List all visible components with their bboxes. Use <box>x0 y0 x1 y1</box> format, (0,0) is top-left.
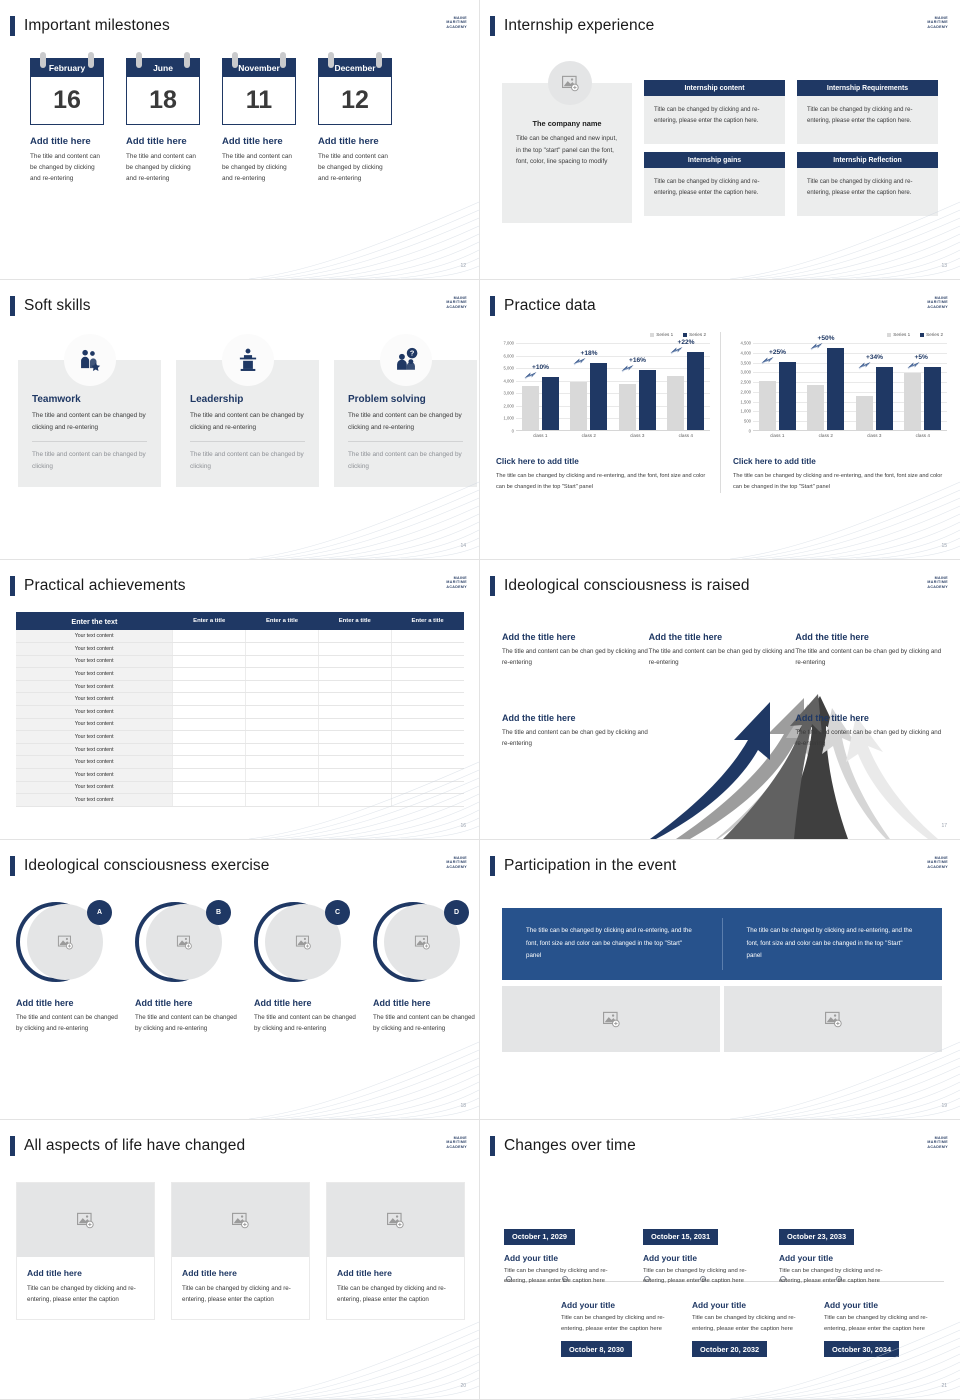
table-cell-empty[interactable] <box>246 794 319 807</box>
table-cell-empty[interactable] <box>318 643 391 656</box>
soft-skill-body-secondary: The title and content can be changed by … <box>32 449 147 473</box>
participation-band: The title can be changed by clicking and… <box>502 908 942 980</box>
internship-card-body: Title can be changed by clicking and re-… <box>644 96 785 144</box>
internship-card[interactable]: Internship Reflection Title can be chang… <box>797 152 938 216</box>
image-placeholder[interactable] <box>327 1183 464 1257</box>
table-cell-empty[interactable] <box>246 668 319 681</box>
bar <box>570 382 587 430</box>
column-divider <box>720 332 721 493</box>
aspect-card-text: Title can be changed by clicking and re-… <box>27 1283 144 1306</box>
ideology-item-head: Add the title here <box>502 713 649 723</box>
table-cell-empty[interactable] <box>318 781 391 794</box>
ideology-item-head: Add the title here <box>795 632 942 642</box>
x-axis-labels: class 1class 2class 3class 4 <box>516 433 710 438</box>
bar <box>639 370 656 430</box>
table-cell-empty[interactable] <box>173 655 246 668</box>
slide-soft-skills: Soft skills MAINE MARITIME ACADEMY Teamw… <box>0 280 480 560</box>
page-number: 12 <box>460 263 466 269</box>
table-cell-label: Your text content <box>16 668 173 681</box>
image-placeholder-icon <box>824 1010 843 1029</box>
internship-card-header: Internship content <box>644 80 785 96</box>
y-tick-label: 1,500 <box>741 399 751 404</box>
image-placeholder[interactable] <box>502 986 720 1052</box>
page-number: 16 <box>460 823 466 829</box>
y-tick-label: 2,000 <box>741 389 751 394</box>
logo-line-3: ACADEMY <box>446 865 467 869</box>
title-accent-bar <box>490 856 495 876</box>
calendar-body: 11 <box>222 77 296 125</box>
timeline-date: October 23, 2033 <box>779 1229 854 1245</box>
table-cell-empty[interactable] <box>318 731 391 744</box>
logo-line-3: ACADEMY <box>927 25 948 29</box>
slide-deck: Important milestones MAINE MARITIME ACAD… <box>0 0 960 1400</box>
bar-annotation: +16% <box>629 357 646 364</box>
title-accent-bar <box>490 576 495 596</box>
company-description: Title can be changed and new input, in t… <box>516 133 618 168</box>
table-cell-empty[interactable] <box>391 781 464 794</box>
table-row[interactable]: Your text content <box>16 630 464 643</box>
table-row[interactable]: Your text content <box>16 769 464 782</box>
teamwork-icon <box>64 334 116 386</box>
table-cell-empty[interactable] <box>173 668 246 681</box>
legend-item: Series 2 <box>683 332 706 337</box>
brand-logo: MAINE MARITIME ACADEMY <box>446 296 467 309</box>
y-axis: 05001,0001,5002,0002,5003,0003,5004,0004… <box>727 343 753 431</box>
bar-group: +34% <box>850 343 899 430</box>
timeline-entry-below[interactable]: Add your title Title can be changed by c… <box>692 1300 816 1357</box>
table-cell-empty[interactable] <box>391 794 464 807</box>
growth-arrow-icon <box>621 364 634 373</box>
legend-item: Series 1 <box>650 332 673 337</box>
page-title: Ideological consciousness exercise <box>10 856 270 876</box>
internship-card[interactable]: Internship content Title can be changed … <box>644 80 785 144</box>
timeline: October 1, 2029 Add your title Title can… <box>504 1178 944 1368</box>
table-cell-empty[interactable] <box>391 630 464 643</box>
exercise-item-head: Add title here <box>135 998 239 1008</box>
table-cell-empty[interactable] <box>173 630 246 643</box>
exercise-item-head: Add title here <box>16 998 120 1008</box>
bar-groups: +25%+50%+34%+5% <box>753 343 947 430</box>
chart-caption: Click here to add title The title can be… <box>490 457 714 493</box>
table-row[interactable]: Your text content <box>16 743 464 756</box>
image-placeholder[interactable] <box>17 1183 154 1257</box>
table-cell-empty[interactable] <box>173 756 246 769</box>
ideology-item[interactable]: Add the title here The title and content… <box>502 632 649 669</box>
table-cell-empty[interactable] <box>246 718 319 731</box>
table-cell-empty[interactable] <box>318 794 391 807</box>
bar-chart: 01,0002,0003,0004,0005,0006,0007,000 +10… <box>490 343 714 447</box>
milestone-title: Add title here <box>222 136 296 147</box>
image-placeholder[interactable] <box>172 1183 309 1257</box>
image-placeholder[interactable] <box>548 61 592 105</box>
table-cell-empty[interactable] <box>318 706 391 719</box>
table-row[interactable]: Your text content <box>16 693 464 706</box>
y-tick-label: 0 <box>512 429 514 434</box>
exercise-item[interactable]: C Add title here The title and content c… <box>254 902 358 1034</box>
table-cell-label: Your text content <box>16 643 173 656</box>
table-cell-empty[interactable] <box>318 680 391 693</box>
page-number: 17 <box>941 823 947 829</box>
table-cell-empty[interactable] <box>391 693 464 706</box>
timeline-head: Add your title <box>643 1253 767 1263</box>
chart-caption-title: Click here to add title <box>496 457 714 466</box>
milestone-title: Add title here <box>318 136 392 147</box>
title-accent-bar <box>10 576 15 596</box>
image-placeholder-icon <box>561 74 580 93</box>
table-cell-empty[interactable] <box>173 781 246 794</box>
table-row[interactable]: Your text content <box>16 668 464 681</box>
y-tick-label: 0 <box>749 429 751 434</box>
table-cell-label: Your text content <box>16 743 173 756</box>
aspect-card[interactable]: Add title here Title can be changed by c… <box>16 1182 155 1320</box>
calendar-day: 12 <box>341 88 369 113</box>
table-cell-empty[interactable] <box>391 706 464 719</box>
aspect-card-body: Add title here Title can be changed by c… <box>17 1257 154 1319</box>
aspect-card[interactable]: Add title here Title can be changed by c… <box>171 1182 310 1320</box>
slide-changes-over-time: Changes over time MAINE MARITIME ACADEMY… <box>480 1120 960 1400</box>
page-title: Changes over time <box>490 1136 636 1156</box>
internship-card-header: Internship gains <box>644 152 785 168</box>
table-cell-empty[interactable] <box>173 693 246 706</box>
timeline-entry-above[interactable]: October 1, 2029 Add your title Title can… <box>504 1226 628 1287</box>
table-cell-empty[interactable] <box>318 668 391 681</box>
x-tick-label: class 3 <box>613 433 662 438</box>
calendar-ring-icon <box>328 52 334 68</box>
table-row[interactable]: Your text content <box>16 655 464 668</box>
aspect-card-head: Add title here <box>337 1268 454 1278</box>
image-placeholder-icon <box>414 934 431 951</box>
title-accent-bar <box>10 856 15 876</box>
milestone-item[interactable]: November 11 Add title here The title and… <box>222 58 296 185</box>
bar-annotation: +34% <box>866 354 883 361</box>
slide-title-text: Changes over time <box>504 1137 636 1155</box>
ideology-item[interactable]: Add the title here The title and content… <box>502 713 649 750</box>
aspect-card-text: Title can be changed by clicking and re-… <box>182 1283 299 1306</box>
timeline-head: Add your title <box>779 1253 903 1263</box>
title-accent-bar <box>10 16 15 36</box>
bar-annotation: +10% <box>532 364 549 371</box>
slide-important-milestones: Important milestones MAINE MARITIME ACAD… <box>0 0 480 280</box>
table-cell-empty[interactable] <box>173 718 246 731</box>
participation-images <box>502 986 942 1052</box>
table-cell-empty[interactable] <box>391 643 464 656</box>
soft-skill-body-secondary: The title and content can be changed by … <box>190 449 305 473</box>
calendar-ring-icon <box>232 52 238 68</box>
table-cell-label: Your text content <box>16 630 173 643</box>
company-panel: The company name Title can be changed an… <box>502 83 632 223</box>
circle-graphic: C <box>254 902 350 984</box>
table-cell-empty[interactable] <box>173 743 246 756</box>
soft-skill-card[interactable]: ? Problem solving The title and content … <box>334 360 477 487</box>
table-cell-empty[interactable] <box>318 655 391 668</box>
page-number: 19 <box>941 1103 947 1109</box>
timeline-entry-below[interactable]: Add your title Title can be changed by c… <box>561 1300 685 1357</box>
slide-title-text: Ideological consciousness is raised <box>504 577 750 595</box>
bar <box>667 376 684 430</box>
circle-badge: D <box>444 900 469 925</box>
ideology-item-body: The title and content can be chan ged by… <box>795 727 942 750</box>
ideology-item-head: Add the title here <box>502 632 649 642</box>
table-cell-empty[interactable] <box>173 706 246 719</box>
table-cell-empty[interactable] <box>391 731 464 744</box>
aspect-card-body: Add title here Title can be changed by c… <box>172 1257 309 1319</box>
table-cell-empty[interactable] <box>173 680 246 693</box>
exercise-item-head: Add title here <box>373 998 477 1008</box>
table-cell-empty[interactable] <box>246 731 319 744</box>
circle-graphic: B <box>135 902 231 984</box>
brand-logo: MAINE MARITIME ACADEMY <box>446 856 467 869</box>
calendar-card: November 11 <box>222 58 296 125</box>
timeline-date: October 30, 2034 <box>824 1341 899 1357</box>
x-tick-label: class 4 <box>899 433 948 438</box>
y-tick-label: 4,000 <box>741 350 751 355</box>
image-placeholder-icon <box>176 934 193 951</box>
y-tick-label: 6,000 <box>504 353 514 358</box>
table-row[interactable]: Your text content <box>16 731 464 744</box>
internship-card-body: Title can be changed by clicking and re-… <box>644 168 785 216</box>
brand-logo: MAINE MARITIME ACADEMY <box>927 16 948 29</box>
table-cell-empty[interactable] <box>391 756 464 769</box>
exercise-item-body: The title and content can be changed by … <box>254 1012 358 1034</box>
table-row[interactable]: Your text content <box>16 756 464 769</box>
page-title: Important milestones <box>10 16 170 36</box>
logo-line-3: ACADEMY <box>446 1145 467 1149</box>
timeline-body: Title can be changed by clicking and re-… <box>824 1313 948 1334</box>
slide-practical-achievements: Practical achievements MAINE MARITIME AC… <box>0 560 480 840</box>
circle-graphic: A <box>16 902 112 984</box>
table-cell-empty[interactable] <box>246 769 319 782</box>
table-cell-empty[interactable] <box>318 743 391 756</box>
timeline-entry-below[interactable]: Add your title Title can be changed by c… <box>824 1300 948 1357</box>
soft-skill-card[interactable]: Leadership The title and content can be … <box>176 360 319 487</box>
chart-caption-title: Click here to add title <box>733 457 951 466</box>
bar <box>542 377 559 430</box>
table-cell-empty[interactable] <box>246 655 319 668</box>
y-tick-label: 4,500 <box>741 341 751 346</box>
ideology-item[interactable]: Add the title here The title and content… <box>795 632 942 669</box>
x-axis-labels: class 1class 2class 3class 4 <box>753 433 947 438</box>
milestone-desc: The title and content can be changed by … <box>30 151 104 185</box>
slide-title-text: Ideological consciousness exercise <box>24 857 270 875</box>
page-title: Internship experience <box>490 16 654 36</box>
bar-group: +16% <box>613 343 662 430</box>
page-number: 21 <box>941 1383 947 1389</box>
exercise-item-head: Add title here <box>254 998 358 1008</box>
timeline-body: Title can be changed by clicking and re-… <box>779 1266 903 1287</box>
timeline-entry-above[interactable]: October 15, 2031 Add your title Title ca… <box>643 1226 767 1287</box>
table-cell-empty[interactable] <box>173 794 246 807</box>
logo-line-3: ACADEMY <box>446 585 467 589</box>
milestone-item[interactable]: February 16 Add title here The title and… <box>30 58 104 185</box>
table-cell-empty[interactable] <box>246 643 319 656</box>
soft-skill-card[interactable]: Teamwork The title and content can be ch… <box>18 360 161 487</box>
table-cell-empty[interactable] <box>391 718 464 731</box>
table-cell-empty[interactable] <box>246 756 319 769</box>
table-cell-empty[interactable] <box>246 680 319 693</box>
bar-chart: 05001,0001,5002,0002,5003,0003,5004,0004… <box>727 343 951 447</box>
table-cell-empty[interactable] <box>246 781 319 794</box>
milestone-item[interactable]: December 12 Add title here The title and… <box>318 58 392 185</box>
table-cell-label: Your text content <box>16 769 173 782</box>
chart-columns: Series 1Series 2 01,0002,0003,0004,0005,… <box>490 332 952 493</box>
title-accent-bar <box>490 16 495 36</box>
table-cell-empty[interactable] <box>391 668 464 681</box>
table-cell-empty[interactable] <box>391 680 464 693</box>
table-column-header: Enter a title <box>173 612 246 630</box>
table-cell-empty[interactable] <box>391 769 464 782</box>
y-tick-label: 5,000 <box>504 366 514 371</box>
table-cell-empty[interactable] <box>318 769 391 782</box>
image-placeholder-icon <box>76 1211 95 1230</box>
exercise-item[interactable]: A Add title here The title and content c… <box>16 902 120 1034</box>
legend-item: Series 1 <box>887 332 910 337</box>
internship-card-grid: Internship content Title can be changed … <box>644 80 938 216</box>
bar <box>779 362 796 430</box>
y-tick-label: 1,000 <box>741 409 751 414</box>
slide-title-text: Practice data <box>504 297 596 315</box>
exercise-item[interactable]: B Add title here The title and content c… <box>135 902 239 1034</box>
exercise-item-body: The title and content can be changed by … <box>16 1012 120 1034</box>
table-cell-empty[interactable] <box>318 630 391 643</box>
y-tick-label: 500 <box>744 419 751 424</box>
exercise-item-body: The title and content can be changed by … <box>135 1012 239 1034</box>
aspect-card-list: Add title here Title can be changed by c… <box>16 1182 465 1320</box>
bar <box>619 384 636 431</box>
milestone-item[interactable]: June 18 Add title here The title and con… <box>126 58 200 185</box>
table-cell-empty[interactable] <box>391 743 464 756</box>
calendar-day: 18 <box>149 88 177 113</box>
bar-annotation: +50% <box>818 335 835 342</box>
growth-arrow-icon <box>524 371 537 380</box>
exercise-item[interactable]: D Add title here The title and content c… <box>373 902 477 1034</box>
chart-caption: Click here to add title The title can be… <box>727 457 951 493</box>
aspect-card[interactable]: Add title here Title can be changed by c… <box>326 1182 465 1320</box>
table-cell-empty[interactable] <box>246 630 319 643</box>
bar-group: +25% <box>753 343 802 430</box>
bar <box>590 363 607 430</box>
exercise-circle-list: A Add title here The title and content c… <box>16 902 477 1034</box>
table-cell-label: Your text content <box>16 693 173 706</box>
timeline-head: Add your title <box>561 1300 685 1310</box>
table-row[interactable]: Your text content <box>16 706 464 719</box>
timeline-date: October 1, 2029 <box>504 1229 575 1245</box>
timeline-head: Add your title <box>824 1300 948 1310</box>
table-row[interactable]: Your text content <box>16 794 464 807</box>
soft-skill-body-secondary: The title and content can be changed by … <box>348 449 463 473</box>
bar <box>876 367 893 430</box>
calendar-ring-icon <box>376 52 382 68</box>
bar-group: +10% <box>516 343 565 430</box>
calendar-card: December 12 <box>318 58 392 125</box>
timeline-entry-above[interactable]: October 23, 2033 Add your title Title ca… <box>779 1226 903 1287</box>
table-cell-label: Your text content <box>16 731 173 744</box>
plot-area: +10%+18%+16%+22% <box>516 343 710 431</box>
calendar-ring-icon <box>184 52 190 68</box>
table-cell-empty[interactable] <box>173 643 246 656</box>
bar-group: +18% <box>565 343 614 430</box>
slide-title-text: Participation in the event <box>504 857 676 875</box>
y-tick-label: 2,500 <box>741 380 751 385</box>
brand-logo: MAINE MARITIME ACADEMY <box>446 16 467 29</box>
bar <box>522 386 539 430</box>
milestone-desc: The title and content can be changed by … <box>318 151 392 185</box>
table-cell-empty[interactable] <box>391 655 464 668</box>
bar-annotation: +25% <box>769 349 786 356</box>
slide-title-text: All aspects of life have changed <box>24 1137 245 1155</box>
table-row[interactable]: Your text content <box>16 643 464 656</box>
y-axis: 01,0002,0003,0004,0005,0006,0007,000 <box>490 343 516 431</box>
chart-legend: Series 1Series 2 <box>727 332 951 337</box>
circle-badge: A <box>87 900 112 925</box>
calendar-body: 12 <box>318 77 392 125</box>
internship-card[interactable]: Internship gains Title can be changed by… <box>644 152 785 216</box>
internship-card[interactable]: Internship Requirements Title can be cha… <box>797 80 938 144</box>
ideology-item[interactable]: Add the title here The title and content… <box>795 713 942 750</box>
milestone-title: Add title here <box>126 136 200 147</box>
image-placeholder-icon <box>602 1010 621 1029</box>
milestone-desc: The title and content can be changed by … <box>222 151 296 185</box>
table-row[interactable]: Your text content <box>16 680 464 693</box>
logo-line-3: ACADEMY <box>446 305 467 309</box>
calendar-day: 11 <box>246 88 272 113</box>
table-cell-empty[interactable] <box>318 718 391 731</box>
table-cell-empty[interactable] <box>318 756 391 769</box>
slide-title-text: Practical achievements <box>24 577 186 595</box>
ideology-item[interactable]: Add the title here The title and content… <box>649 632 796 669</box>
table-cell-label: Your text content <box>16 756 173 769</box>
table-header-row: Enter the textEnter a titleEnter a title… <box>16 612 464 630</box>
y-tick-label: 7,000 <box>504 341 514 346</box>
bar <box>924 367 941 430</box>
leadership-icon <box>222 334 274 386</box>
image-placeholder-icon <box>231 1211 250 1230</box>
exercise-item-body: The title and content can be changed by … <box>373 1012 477 1034</box>
calendar-card: June 18 <box>126 58 200 125</box>
bar <box>759 381 776 430</box>
ideology-item-body: The title and content can be chan ged by… <box>649 646 796 669</box>
page-title: Soft skills <box>10 296 91 316</box>
table-cell-empty[interactable] <box>246 743 319 756</box>
table-cell-empty[interactable] <box>246 693 319 706</box>
brand-logo: MAINE MARITIME ACADEMY <box>446 1136 467 1149</box>
image-placeholder[interactable] <box>724 986 942 1052</box>
slide-ideological-consciousness-raised: Ideological consciousness is raised MAIN… <box>480 560 960 840</box>
table-cell-label: Your text content <box>16 794 173 807</box>
slide-title-text: Internship experience <box>504 17 654 35</box>
title-accent-bar <box>10 1136 15 1156</box>
table-row[interactable]: Your text content <box>16 718 464 731</box>
table-cell-empty[interactable] <box>173 769 246 782</box>
table-cell-empty[interactable] <box>246 706 319 719</box>
title-accent-bar <box>10 296 15 316</box>
table-cell-empty[interactable] <box>318 693 391 706</box>
table-cell-empty[interactable] <box>173 731 246 744</box>
ideology-item-body: The title and content can be chan ged by… <box>502 646 649 669</box>
y-tick-label: 3,000 <box>741 370 751 375</box>
bar <box>856 396 873 430</box>
chart-legend: Series 1Series 2 <box>490 332 714 337</box>
table-row[interactable]: Your text content <box>16 781 464 794</box>
page-number: 14 <box>460 543 466 549</box>
brand-logo: MAINE MARITIME ACADEMY <box>927 1136 948 1149</box>
brand-logo: MAINE MARITIME ACADEMY <box>927 856 948 869</box>
page-title: Participation in the event <box>490 856 676 876</box>
chart-caption-body: The title can be changed by clicking and… <box>496 471 714 493</box>
title-accent-bar <box>490 1136 495 1156</box>
page-number: 13 <box>941 263 947 269</box>
image-placeholder-icon <box>295 934 312 951</box>
company-name: The company name <box>516 119 618 128</box>
